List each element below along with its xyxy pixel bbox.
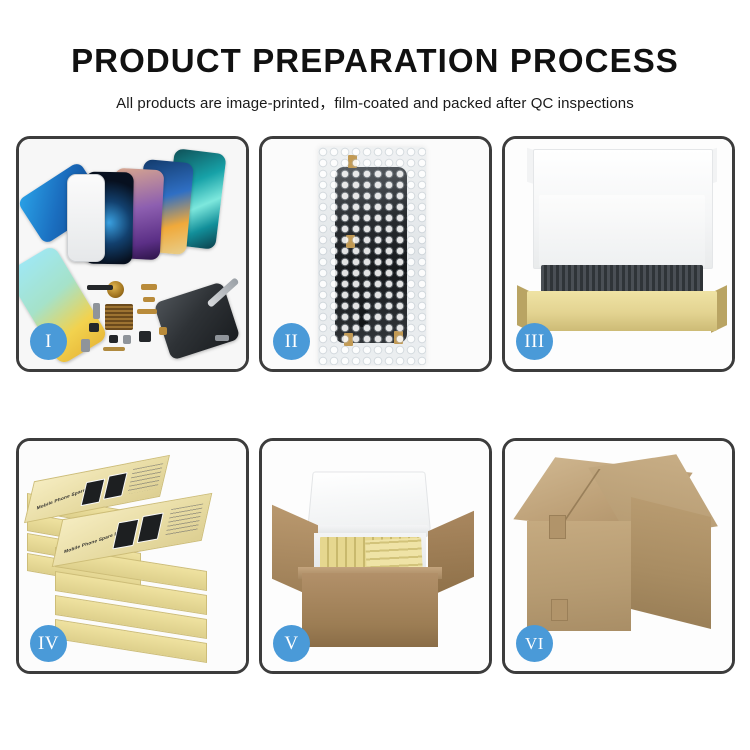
part-screw-set: [159, 327, 167, 335]
page-header: PRODUCT PREPARATION PROCESS All products…: [0, 0, 750, 113]
process-step-panel-3[interactable]: III: [502, 136, 735, 372]
part-camera-module: [89, 323, 99, 332]
box-front-panel: [527, 291, 717, 331]
box-spec-text-back: [127, 463, 163, 494]
box-screen-image-4: [137, 512, 164, 543]
process-step-panel-2[interactable]: II: [259, 136, 492, 372]
carton-front-face: [527, 521, 631, 631]
page-title: PRODUCT PREPARATION PROCESS: [0, 0, 750, 79]
part-clip: [215, 335, 229, 341]
foam-lid: [307, 472, 431, 532]
part-button-2: [123, 335, 131, 344]
part-button-1: [109, 335, 118, 343]
bubble-wrap-bag: [318, 147, 426, 365]
carton-tape-upper: [549, 515, 566, 539]
process-step-panel-6[interactable]: VI: [502, 438, 735, 674]
box-screen-image-3: [112, 519, 139, 550]
part-flex-cable-2: [143, 297, 155, 302]
step-badge-2: II: [273, 323, 310, 360]
process-step-panel-5[interactable]: V: [259, 438, 492, 674]
box-screen-image-1: [81, 478, 106, 506]
part-speaker: [139, 331, 151, 342]
carton-side-face: [631, 497, 711, 629]
bubble-texture: [318, 147, 426, 365]
screen-protector-glass: [67, 174, 105, 262]
box-spec-text-front: [165, 503, 203, 536]
page-subtitle: All products are image-printed，film-coat…: [0, 79, 750, 113]
part-flex-cable-3: [137, 309, 157, 314]
part-flex-cable-4: [103, 347, 125, 351]
step-badge-1: I: [30, 323, 67, 360]
part-flex-cable-1: [141, 284, 157, 290]
foam-liner: [539, 195, 705, 267]
process-step-panel-4[interactable]: Mobile Phone Spare Parts Mobile Phone Sp…: [16, 438, 249, 674]
step-badge-5: V: [273, 625, 310, 662]
step-badge-6: VI: [516, 625, 553, 662]
carton-body: [302, 573, 438, 647]
step-badge-3: III: [516, 323, 553, 360]
part-bracket-1: [93, 303, 100, 319]
carton-tape-lower: [551, 599, 568, 621]
process-step-panel-1[interactable]: I: [16, 136, 249, 372]
process-step-grid: I II: [16, 136, 734, 674]
box-screen-image-2: [103, 472, 128, 500]
part-connector-1: [87, 285, 113, 290]
logic-board-chip: [105, 304, 133, 330]
part-sim-tray: [81, 339, 90, 352]
step-badge-4: IV: [30, 625, 67, 662]
